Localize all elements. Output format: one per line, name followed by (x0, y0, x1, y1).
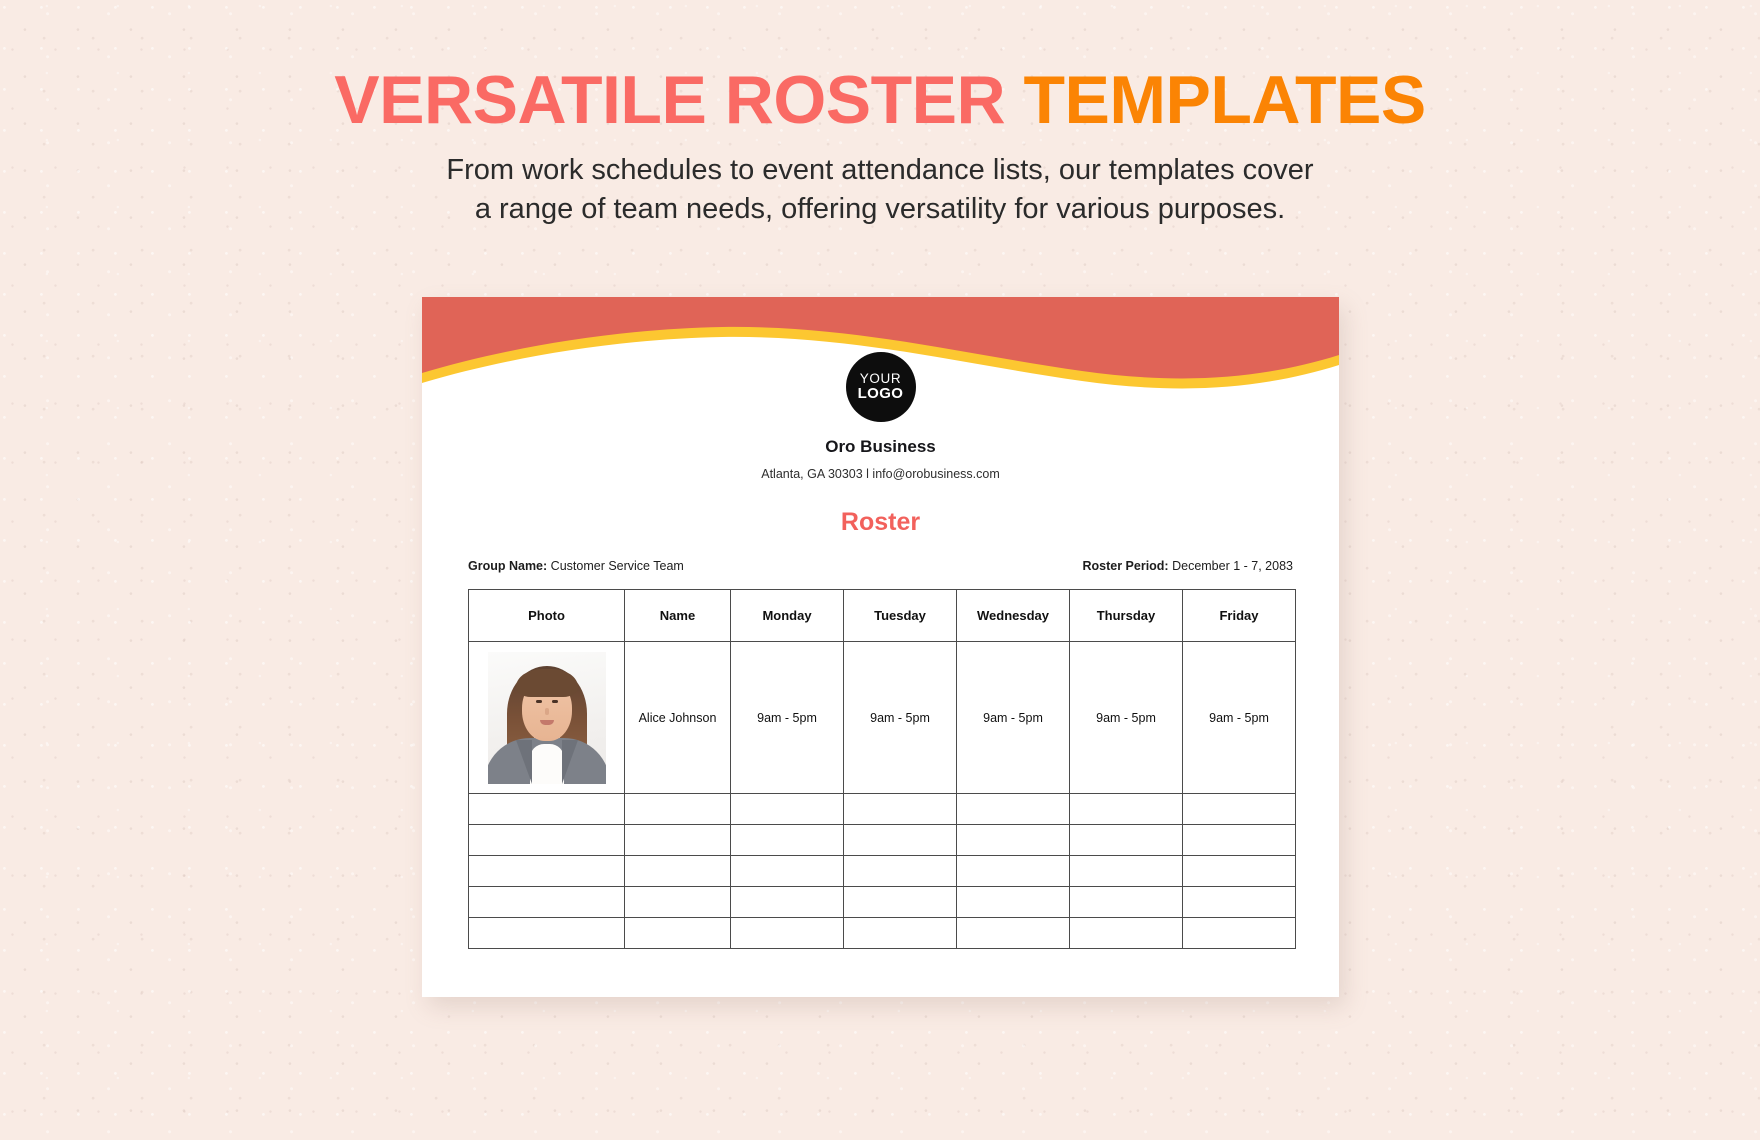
cell-empty (957, 825, 1070, 856)
cell-empty (1070, 856, 1183, 887)
cell-monday: 9am - 5pm (731, 642, 844, 794)
cell-empty (625, 856, 731, 887)
cell-empty (1070, 794, 1183, 825)
cell-empty (1183, 856, 1296, 887)
cell-empty (625, 918, 731, 949)
promo-title-part-a: VERSATILE ROSTER (334, 62, 1023, 138)
table-row-empty (469, 918, 1296, 949)
promo-header: VERSATILE ROSTER TEMPLATES From work sch… (0, 0, 1760, 228)
table-row-empty (469, 794, 1296, 825)
table-row-empty (469, 856, 1296, 887)
promo-title-part-b: TEMPLATES (1023, 62, 1425, 138)
cell-empty (625, 794, 731, 825)
empty-rows-group (469, 794, 1296, 949)
cell-empty (1070, 825, 1183, 856)
cell-empty (1070, 918, 1183, 949)
letterhead: YOUR LOGO Oro Business Atlanta, GA 30303… (422, 297, 1339, 537)
document-title: Roster (422, 508, 1339, 537)
cell-empty (957, 918, 1070, 949)
cell-empty (957, 794, 1070, 825)
cell-empty (1183, 918, 1296, 949)
column-header-tuesday: Tuesday (844, 590, 957, 642)
cell-empty (731, 794, 844, 825)
cell-empty (957, 856, 1070, 887)
column-header-name: Name (625, 590, 731, 642)
table-row-empty (469, 887, 1296, 918)
table-row: Alice Johnson 9am - 5pm 9am - 5pm 9am - … (469, 642, 1296, 794)
cell-empty (957, 887, 1070, 918)
cell-empty (469, 856, 625, 887)
promo-subtitle-line-2: a range of team needs, offering versatil… (0, 190, 1760, 228)
roster-period-value: December 1 - 7, 2083 (1172, 559, 1293, 573)
roster-table-container: Photo Name Monday Tuesday Wednesday Thur… (468, 589, 1295, 949)
cell-photo (469, 642, 625, 794)
group-name-label: Group Name: (468, 559, 547, 573)
table-header-row: Photo Name Monday Tuesday Wednesday Thur… (469, 590, 1296, 642)
group-name-value: Customer Service Team (551, 559, 684, 573)
cell-empty (844, 794, 957, 825)
logo-line-1: YOUR (860, 372, 901, 387)
cell-friday: 9am - 5pm (1183, 642, 1296, 794)
cell-name: Alice Johnson (625, 642, 731, 794)
roster-table: Photo Name Monday Tuesday Wednesday Thur… (468, 589, 1296, 949)
cell-empty (1183, 825, 1296, 856)
roster-document-page: YOUR LOGO Oro Business Atlanta, GA 30303… (422, 297, 1339, 997)
column-header-wednesday: Wednesday (957, 590, 1070, 642)
company-name: Oro Business (422, 437, 1339, 457)
cell-empty (844, 918, 957, 949)
cell-empty (731, 918, 844, 949)
table-row-empty (469, 825, 1296, 856)
promo-subtitle-line-1: From work schedules to event attendance … (0, 151, 1760, 189)
promo-subtitle: From work schedules to event attendance … (0, 151, 1760, 228)
cell-empty (1183, 887, 1296, 918)
cell-thursday: 9am - 5pm (1070, 642, 1183, 794)
cell-empty (844, 887, 957, 918)
company-contact-line: Atlanta, GA 30303 l info@orobusiness.com (422, 467, 1339, 481)
cell-empty (625, 825, 731, 856)
roster-meta-row: Group Name: Customer Service Team Roster… (468, 559, 1293, 573)
cell-tuesday: 9am - 5pm (844, 642, 957, 794)
cell-empty (844, 856, 957, 887)
cell-wednesday: 9am - 5pm (957, 642, 1070, 794)
cell-empty (1183, 794, 1296, 825)
cell-empty (731, 856, 844, 887)
cell-empty (1070, 887, 1183, 918)
cell-empty (469, 794, 625, 825)
cell-empty (625, 887, 731, 918)
logo-line-2: LOGO (858, 386, 904, 402)
column-header-friday: Friday (1183, 590, 1296, 642)
promo-title: VERSATILE ROSTER TEMPLATES (0, 66, 1760, 135)
cell-empty (469, 825, 625, 856)
company-logo: YOUR LOGO (846, 352, 916, 422)
cell-empty (469, 887, 625, 918)
roster-period-field: Roster Period: December 1 - 7, 2083 (1082, 559, 1293, 573)
column-header-monday: Monday (731, 590, 844, 642)
cell-empty (844, 825, 957, 856)
column-header-thursday: Thursday (1070, 590, 1183, 642)
cell-empty (469, 918, 625, 949)
cell-empty (731, 887, 844, 918)
employee-headshot-photo (488, 652, 606, 784)
roster-period-label: Roster Period: (1082, 559, 1168, 573)
cell-empty (731, 825, 844, 856)
group-name-field: Group Name: Customer Service Team (468, 559, 684, 573)
column-header-photo: Photo (469, 590, 625, 642)
